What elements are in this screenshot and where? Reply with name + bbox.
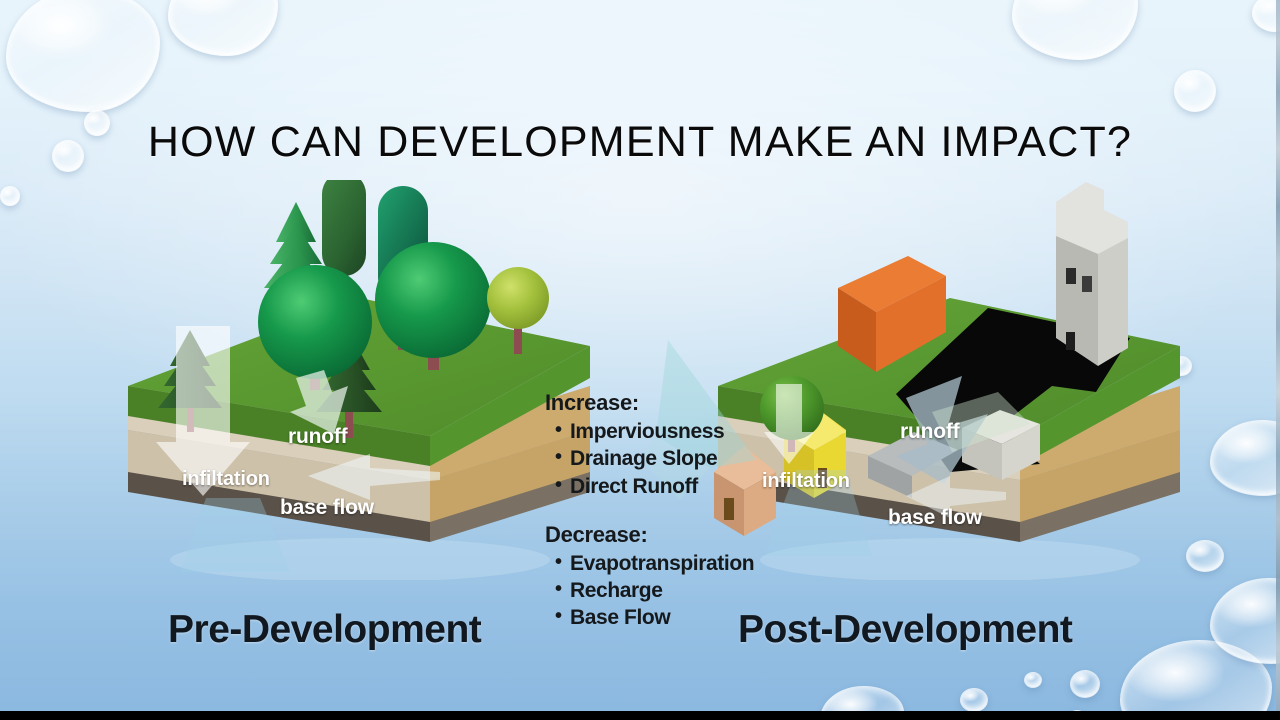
- list-item: Recharge: [555, 577, 760, 604]
- increase-items: Imperviousness Drainage Slope Direct Run…: [545, 418, 760, 500]
- water-droplet-icon: [1012, 0, 1138, 60]
- list-item: Evapotranspiration: [555, 550, 760, 577]
- water-droplet-icon: [1174, 70, 1216, 112]
- bottom-letterbox-bar: [0, 711, 1280, 720]
- water-droplet-icon: [960, 688, 988, 712]
- increase-group: Increase: Imperviousness Drainage Slope …: [545, 390, 760, 500]
- decrease-group: Decrease: Evapotranspiration Recharge Ba…: [545, 522, 760, 632]
- post-development-caption: Post-Development: [738, 608, 1072, 652]
- water-droplet-icon: [1024, 672, 1042, 688]
- post-development-illustration: [700, 180, 1200, 580]
- page-title: HOW CAN DEVELOPMENT MAKE AN IMPACT?: [0, 118, 1280, 167]
- decrease-items: Evapotranspiration Recharge Base Flow: [545, 550, 760, 632]
- slide-canvas: HOW CAN DEVELOPMENT MAKE AN IMPACT?: [0, 0, 1280, 720]
- water-droplet-icon: [0, 186, 20, 206]
- list-item: Base Flow: [555, 604, 760, 631]
- water-droplet-icon: [1210, 420, 1280, 496]
- right-edge-artifact: [1276, 0, 1280, 712]
- impact-summary-list: Increase: Imperviousness Drainage Slope …: [545, 390, 760, 632]
- water-droplet-icon: [168, 0, 278, 56]
- water-droplet-icon: [1070, 670, 1100, 698]
- water-droplet-icon: [1210, 578, 1280, 664]
- increase-heading: Increase:: [545, 390, 760, 416]
- list-item: Imperviousness: [555, 418, 760, 445]
- pre-development-illustration: [110, 180, 610, 580]
- building-gray-tower: [1056, 182, 1128, 366]
- water-droplet-icon: [6, 0, 160, 112]
- pre-development-diagram: runoff infiltation base flow: [110, 180, 610, 580]
- post-development-diagram: runoff infiltation base flow: [700, 180, 1200, 580]
- pre-development-caption: Pre-Development: [168, 608, 481, 652]
- list-item: Direct Runoff: [555, 473, 760, 500]
- water-droplet-icon: [1120, 640, 1272, 720]
- decrease-heading: Decrease:: [545, 522, 760, 548]
- list-item: Drainage Slope: [555, 445, 760, 472]
